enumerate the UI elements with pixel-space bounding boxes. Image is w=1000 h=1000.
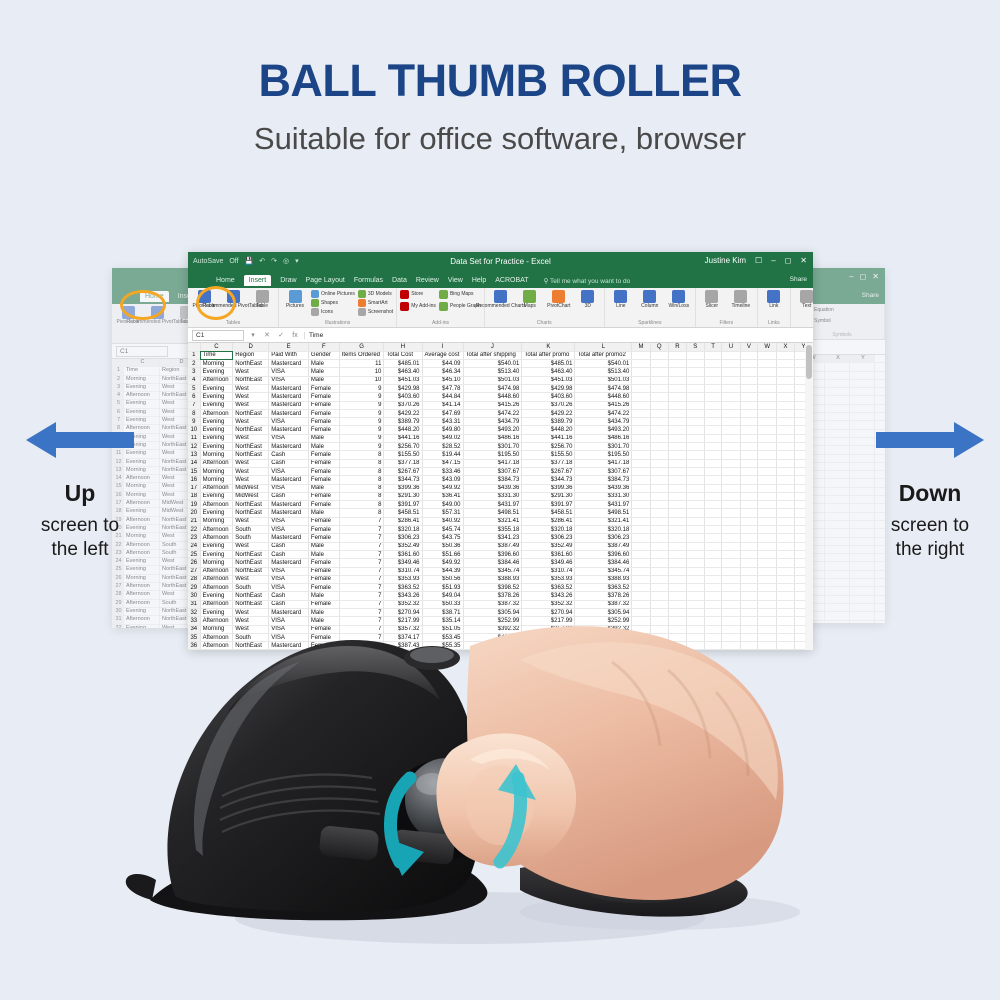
data-cell[interactable]: $321.41 bbox=[575, 517, 632, 525]
data-cell[interactable]: $398.52 bbox=[463, 584, 522, 592]
empty-cell[interactable] bbox=[668, 592, 686, 600]
empty-cell[interactable] bbox=[650, 492, 668, 500]
empty-cell[interactable] bbox=[777, 368, 795, 376]
data-cell[interactable]: Evening bbox=[200, 434, 233, 442]
data-cell[interactable]: $396.60 bbox=[463, 550, 522, 558]
data-cell[interactable]: $384.73 bbox=[463, 476, 522, 484]
data-cell[interactable]: $155.50 bbox=[384, 451, 422, 459]
empty-cell[interactable] bbox=[740, 376, 758, 384]
data-cell[interactable]: Afternoon bbox=[200, 526, 233, 534]
data-cell[interactable]: $361.60 bbox=[522, 550, 575, 558]
empty-cell[interactable] bbox=[650, 434, 668, 442]
close-icon[interactable]: ✕ bbox=[800, 256, 807, 265]
data-cell[interactable]: $458.51 bbox=[384, 509, 422, 517]
empty-cell[interactable] bbox=[650, 459, 668, 467]
empty-cell[interactable] bbox=[704, 384, 722, 392]
column-header-W[interactable]: W bbox=[758, 343, 777, 351]
empty-cell[interactable] bbox=[686, 534, 704, 542]
data-cell[interactable]: $57.31 bbox=[422, 509, 463, 517]
data-cell[interactable]: South bbox=[233, 526, 269, 534]
empty-cell[interactable] bbox=[632, 517, 650, 525]
row-header-15[interactable]: 15 bbox=[188, 467, 200, 475]
data-cell[interactable]: VISA bbox=[269, 567, 309, 575]
ribbon-tab-insert[interactable]: Insert bbox=[244, 275, 272, 286]
data-cell[interactable]: $49.92 bbox=[422, 484, 463, 492]
header-cell[interactable]: Items Ordered bbox=[339, 351, 384, 359]
data-cell[interactable]: Male bbox=[308, 509, 339, 517]
column-header-S[interactable]: S bbox=[686, 343, 704, 351]
empty-cell[interactable] bbox=[704, 484, 722, 492]
empty-cell[interactable] bbox=[650, 360, 668, 368]
empty-cell[interactable] bbox=[722, 459, 740, 467]
row-header-20[interactable]: 20 bbox=[188, 509, 200, 517]
table-row[interactable]: 30EveningNorthEastCashMale7$343.26$49.04… bbox=[188, 592, 813, 600]
data-cell[interactable]: $485.01 bbox=[522, 360, 575, 368]
data-cell[interactable]: Evening bbox=[200, 550, 233, 558]
data-cell[interactable]: Evening bbox=[200, 384, 233, 392]
data-cell[interactable]: $49.00 bbox=[422, 501, 463, 509]
empty-cell[interactable] bbox=[632, 360, 650, 368]
data-cell[interactable]: 7 bbox=[339, 559, 384, 567]
data-cell[interactable]: $50.36 bbox=[422, 542, 463, 550]
empty-cell[interactable] bbox=[668, 451, 686, 459]
data-cell[interactable]: $301.70 bbox=[463, 443, 522, 451]
empty-cell[interactable] bbox=[777, 476, 795, 484]
empty-cell[interactable] bbox=[704, 559, 722, 567]
row-header-2[interactable]: 2 bbox=[188, 360, 200, 368]
table-button[interactable]: Table bbox=[249, 290, 275, 310]
empty-cell[interactable] bbox=[632, 575, 650, 583]
data-cell[interactable]: Cash bbox=[269, 542, 309, 550]
restore-icon[interactable]: ◻ bbox=[785, 256, 792, 265]
data-cell[interactable]: $448.60 bbox=[575, 393, 632, 401]
data-cell[interactable]: $349.46 bbox=[384, 559, 422, 567]
data-cell[interactable]: $361.60 bbox=[384, 550, 422, 558]
data-cell[interactable]: West bbox=[233, 575, 269, 583]
data-cell[interactable]: Male bbox=[308, 368, 339, 376]
data-cell[interactable]: $388.93 bbox=[575, 575, 632, 583]
column-header-J[interactable]: J bbox=[463, 343, 522, 351]
sparkline-column-button[interactable]: Column bbox=[637, 290, 663, 310]
data-cell[interactable]: $391.97 bbox=[522, 501, 575, 509]
data-cell[interactable]: Female bbox=[308, 534, 339, 542]
data-cell[interactable]: $498.51 bbox=[575, 509, 632, 517]
empty-cell[interactable] bbox=[650, 542, 668, 550]
account-name[interactable]: Justine Kim bbox=[705, 256, 746, 265]
empty-cell[interactable] bbox=[650, 376, 668, 384]
empty-cell[interactable] bbox=[686, 484, 704, 492]
data-cell[interactable]: NorthEast bbox=[233, 501, 269, 509]
row-header-30[interactable]: 30 bbox=[188, 592, 200, 600]
data-cell[interactable]: 7 bbox=[339, 534, 384, 542]
data-cell[interactable]: $291.30 bbox=[522, 492, 575, 500]
data-cell[interactable]: $353.93 bbox=[522, 575, 575, 583]
empty-cell[interactable] bbox=[668, 526, 686, 534]
empty-cell[interactable] bbox=[722, 401, 740, 409]
empty-cell[interactable] bbox=[650, 501, 668, 509]
data-cell[interactable]: $49.92 bbox=[422, 559, 463, 567]
empty-cell[interactable] bbox=[668, 575, 686, 583]
slicer-button[interactable]: Slicer bbox=[699, 290, 725, 310]
link-button[interactable]: Link bbox=[761, 290, 787, 310]
ribbon-tab-data[interactable]: Data bbox=[392, 277, 407, 284]
data-cell[interactable]: Cash bbox=[269, 550, 309, 558]
data-cell[interactable]: VISA bbox=[269, 418, 309, 426]
data-cell[interactable]: West bbox=[233, 418, 269, 426]
row-header-3[interactable]: 3 bbox=[188, 368, 200, 376]
empty-cell[interactable] bbox=[686, 501, 704, 509]
empty-cell[interactable] bbox=[722, 443, 740, 451]
empty-cell[interactable] bbox=[740, 567, 758, 575]
data-cell[interactable]: $320.18 bbox=[575, 526, 632, 534]
data-cell[interactable]: $387.49 bbox=[463, 542, 522, 550]
empty-cell[interactable] bbox=[758, 426, 777, 434]
table-row[interactable]: 25EveningNorthEastCashMale7$361.60$51.66… bbox=[188, 550, 813, 558]
pictures-button[interactable]: Pictures bbox=[282, 290, 308, 310]
empty-cell[interactable] bbox=[777, 384, 795, 392]
column-header-C[interactable]: C bbox=[200, 343, 233, 351]
data-cell[interactable]: Female bbox=[308, 393, 339, 401]
row-header-23[interactable]: 23 bbox=[188, 534, 200, 542]
data-cell[interactable]: VISA bbox=[269, 434, 309, 442]
data-cell[interactable]: $377.18 bbox=[384, 459, 422, 467]
empty-cell[interactable] bbox=[704, 509, 722, 517]
ribbon-tab-home[interactable]: Home bbox=[216, 277, 235, 284]
empty-cell[interactable] bbox=[650, 584, 668, 592]
data-cell[interactable]: Female bbox=[308, 501, 339, 509]
empty-cell[interactable] bbox=[650, 476, 668, 484]
data-cell[interactable]: $341.23 bbox=[463, 534, 522, 542]
my-addins-button[interactable]: My Add-ins bbox=[400, 302, 436, 311]
empty-cell[interactable] bbox=[668, 368, 686, 376]
empty-cell[interactable] bbox=[777, 459, 795, 467]
data-cell[interactable]: $474.98 bbox=[575, 384, 632, 392]
empty-cell[interactable] bbox=[758, 393, 777, 401]
empty-cell[interactable] bbox=[740, 542, 758, 550]
empty-cell[interactable] bbox=[740, 351, 758, 359]
empty-cell[interactable] bbox=[758, 418, 777, 426]
bing-maps-button[interactable]: Bing Maps bbox=[439, 290, 481, 299]
empty-cell[interactable] bbox=[777, 351, 795, 359]
dropdown-icon[interactable]: ▾ bbox=[248, 331, 258, 339]
data-cell[interactable]: $485.01 bbox=[384, 360, 422, 368]
data-cell[interactable]: Afternoon bbox=[200, 459, 233, 467]
data-cell[interactable]: $388.93 bbox=[463, 575, 522, 583]
data-cell[interactable]: $155.50 bbox=[522, 451, 575, 459]
empty-cell[interactable] bbox=[777, 559, 795, 567]
empty-cell[interactable] bbox=[632, 501, 650, 509]
empty-cell[interactable] bbox=[632, 459, 650, 467]
column-header-I[interactable]: I bbox=[422, 343, 463, 351]
scrollbar-thumb[interactable] bbox=[806, 345, 812, 379]
data-cell[interactable]: 9 bbox=[339, 384, 384, 392]
data-cell[interactable]: $36.41 bbox=[422, 492, 463, 500]
empty-cell[interactable] bbox=[650, 484, 668, 492]
data-cell[interactable]: $403.60 bbox=[384, 393, 422, 401]
empty-cell[interactable] bbox=[704, 517, 722, 525]
data-cell[interactable]: $343.26 bbox=[384, 592, 422, 600]
data-cell[interactable]: $195.50 bbox=[463, 451, 522, 459]
data-cell[interactable]: $434.79 bbox=[463, 418, 522, 426]
empty-cell[interactable] bbox=[686, 526, 704, 534]
data-cell[interactable]: Male bbox=[308, 443, 339, 451]
table-row[interactable]: 20EveningNorthEastMastercardMale8$458.51… bbox=[188, 509, 813, 517]
empty-cell[interactable] bbox=[704, 467, 722, 475]
table-row[interactable]: 29AfternoonSouthVISAFemale7$363.52$51.93… bbox=[188, 584, 813, 592]
data-cell[interactable]: 7 bbox=[339, 517, 384, 525]
row-header-10[interactable]: 10 bbox=[188, 426, 200, 434]
empty-cell[interactable] bbox=[650, 384, 668, 392]
data-cell[interactable]: $403.60 bbox=[522, 393, 575, 401]
data-cell[interactable]: $493.20 bbox=[575, 426, 632, 434]
data-cell[interactable]: Evening bbox=[200, 592, 233, 600]
data-cell[interactable]: Afternoon bbox=[200, 584, 233, 592]
empty-cell[interactable] bbox=[668, 351, 686, 359]
empty-cell[interactable] bbox=[686, 418, 704, 426]
data-cell[interactable]: $417.18 bbox=[463, 459, 522, 467]
table-row[interactable]: 23AfternoonSouthMastercardFemale7$306.23… bbox=[188, 534, 813, 542]
data-cell[interactable]: $46.34 bbox=[422, 368, 463, 376]
data-cell[interactable]: $415.26 bbox=[463, 401, 522, 409]
empty-cell[interactable] bbox=[722, 567, 740, 575]
data-cell[interactable]: Cash bbox=[269, 592, 309, 600]
header-cell[interactable]: Paid With bbox=[269, 351, 309, 359]
text-box-button[interactable]: Text bbox=[794, 290, 813, 310]
data-cell[interactable]: Female bbox=[308, 476, 339, 484]
header-cell[interactable]: Total after promo bbox=[522, 351, 575, 359]
data-cell[interactable]: $343.26 bbox=[522, 592, 575, 600]
data-cell[interactable]: $40.92 bbox=[422, 517, 463, 525]
table-row[interactable]: 3EveningWestVISAMale10$463.40$46.34$513.… bbox=[188, 368, 813, 376]
data-cell[interactable]: 7 bbox=[339, 542, 384, 550]
table-row[interactable]: 28AfternoonWestVISAFemale7$353.93$50.56$… bbox=[188, 575, 813, 583]
formula-bar[interactable]: C1 ▾ ✕ ✓ fx Time bbox=[188, 328, 813, 343]
data-cell[interactable]: Morning bbox=[200, 467, 233, 475]
data-cell[interactable]: Mastercard bbox=[269, 401, 309, 409]
empty-cell[interactable] bbox=[632, 451, 650, 459]
empty-cell[interactable] bbox=[704, 476, 722, 484]
data-cell[interactable]: VISA bbox=[269, 526, 309, 534]
data-cell[interactable]: Female bbox=[308, 418, 339, 426]
share-button[interactable]: Share bbox=[790, 276, 807, 283]
data-cell[interactable]: Mastercard bbox=[269, 476, 309, 484]
data-cell[interactable]: South bbox=[233, 534, 269, 542]
data-cell[interactable]: 10 bbox=[339, 368, 384, 376]
empty-cell[interactable] bbox=[777, 451, 795, 459]
empty-cell[interactable] bbox=[777, 467, 795, 475]
empty-cell[interactable] bbox=[777, 401, 795, 409]
data-cell[interactable]: $391.97 bbox=[384, 501, 422, 509]
data-cell[interactable]: 8 bbox=[339, 492, 384, 500]
data-cell[interactable]: $387.49 bbox=[575, 542, 632, 550]
empty-cell[interactable] bbox=[722, 376, 740, 384]
empty-cell[interactable] bbox=[668, 484, 686, 492]
data-cell[interactable]: $363.52 bbox=[575, 584, 632, 592]
data-cell[interactable]: Evening bbox=[200, 509, 233, 517]
data-cell[interactable]: $474.98 bbox=[463, 384, 522, 392]
data-cell[interactable]: Morning bbox=[200, 451, 233, 459]
pivotchart-button[interactable]: PivotChart bbox=[546, 290, 572, 310]
empty-cell[interactable] bbox=[740, 368, 758, 376]
data-cell[interactable]: West bbox=[233, 401, 269, 409]
data-cell[interactable]: $540.01 bbox=[463, 360, 522, 368]
empty-cell[interactable] bbox=[758, 467, 777, 475]
empty-cell[interactable] bbox=[722, 534, 740, 542]
empty-cell[interactable] bbox=[777, 376, 795, 384]
empty-cell[interactable] bbox=[740, 459, 758, 467]
table-row[interactable]: 10EveningNorthEastMastercardFemale9$448.… bbox=[188, 426, 813, 434]
row-header-24[interactable]: 24 bbox=[188, 542, 200, 550]
empty-cell[interactable] bbox=[686, 492, 704, 500]
data-cell[interactable]: 11 bbox=[339, 360, 384, 368]
data-cell[interactable]: $451.03 bbox=[384, 376, 422, 384]
data-cell[interactable]: $458.51 bbox=[522, 509, 575, 517]
data-cell[interactable]: $51.93 bbox=[422, 584, 463, 592]
data-cell[interactable]: 8 bbox=[339, 459, 384, 467]
data-cell[interactable]: NorthEast bbox=[233, 451, 269, 459]
table-row[interactable]: 14AfternoonWestCashFemale8$377.18$47.15$… bbox=[188, 459, 813, 467]
data-cell[interactable]: VISA bbox=[269, 584, 309, 592]
empty-cell[interactable] bbox=[777, 534, 795, 542]
tell-me-search[interactable]: ⚲ Tell me what you want to do bbox=[544, 277, 631, 285]
empty-cell[interactable] bbox=[686, 575, 704, 583]
empty-cell[interactable] bbox=[722, 575, 740, 583]
table-row[interactable]: 21MorningWestVISAFemale7$286.41$40.92$32… bbox=[188, 517, 813, 525]
data-cell[interactable]: $43.31 bbox=[422, 418, 463, 426]
empty-cell[interactable] bbox=[722, 592, 740, 600]
data-cell[interactable]: Male bbox=[308, 550, 339, 558]
data-cell[interactable]: West bbox=[233, 384, 269, 392]
column-header-F[interactable]: F bbox=[308, 343, 339, 351]
data-cell[interactable]: Afternoon bbox=[200, 376, 233, 384]
data-cell[interactable]: $399.36 bbox=[522, 484, 575, 492]
empty-cell[interactable] bbox=[722, 384, 740, 392]
data-cell[interactable]: Male bbox=[308, 376, 339, 384]
empty-cell[interactable] bbox=[668, 534, 686, 542]
data-cell[interactable]: 7 bbox=[339, 526, 384, 534]
table-row[interactable]: 7EveningWestMastercardFemale9$370.26$41.… bbox=[188, 401, 813, 409]
data-cell[interactable]: 9 bbox=[339, 418, 384, 426]
data-cell[interactable]: West bbox=[233, 476, 269, 484]
empty-cell[interactable] bbox=[704, 592, 722, 600]
empty-cell[interactable] bbox=[650, 517, 668, 525]
data-cell[interactable]: $463.40 bbox=[384, 368, 422, 376]
data-cell[interactable]: $513.40 bbox=[463, 368, 522, 376]
empty-cell[interactable] bbox=[632, 467, 650, 475]
data-cell[interactable]: West bbox=[233, 434, 269, 442]
empty-cell[interactable] bbox=[668, 393, 686, 401]
empty-cell[interactable] bbox=[704, 550, 722, 558]
data-cell[interactable]: $307.67 bbox=[463, 467, 522, 475]
column-header-K[interactable]: K bbox=[522, 343, 575, 351]
data-cell[interactable]: $513.40 bbox=[575, 368, 632, 376]
empty-cell[interactable] bbox=[740, 434, 758, 442]
table-row[interactable]: 1TimeRegionPaid WithGenderItems OrderedT… bbox=[188, 351, 813, 359]
empty-cell[interactable] bbox=[758, 409, 777, 417]
empty-cell[interactable] bbox=[777, 567, 795, 575]
table-row[interactable]: 16MorningWestMastercardFemale8$344.73$43… bbox=[188, 476, 813, 484]
data-cell[interactable]: Afternoon bbox=[200, 409, 233, 417]
data-cell[interactable]: $307.67 bbox=[575, 467, 632, 475]
empty-cell[interactable] bbox=[704, 418, 722, 426]
empty-cell[interactable] bbox=[650, 559, 668, 567]
data-cell[interactable]: 9 bbox=[339, 443, 384, 451]
data-cell[interactable]: $291.30 bbox=[384, 492, 422, 500]
column-header-X[interactable]: X bbox=[777, 343, 795, 351]
empty-cell[interactable] bbox=[650, 592, 668, 600]
empty-cell[interactable] bbox=[632, 559, 650, 567]
empty-cell[interactable] bbox=[758, 434, 777, 442]
data-cell[interactable]: $429.22 bbox=[384, 409, 422, 417]
empty-cell[interactable] bbox=[740, 384, 758, 392]
empty-cell[interactable] bbox=[758, 351, 777, 359]
empty-cell[interactable] bbox=[704, 443, 722, 451]
data-cell[interactable]: MidWest bbox=[233, 492, 269, 500]
data-cell[interactable]: Morning bbox=[200, 517, 233, 525]
empty-cell[interactable] bbox=[704, 534, 722, 542]
data-cell[interactable]: $448.20 bbox=[522, 426, 575, 434]
table-row[interactable]: 15MorningWestVISAFemale8$267.67$33.46$30… bbox=[188, 467, 813, 475]
data-cell[interactable]: 8 bbox=[339, 509, 384, 517]
data-cell[interactable]: $195.50 bbox=[575, 451, 632, 459]
data-cell[interactable]: $396.60 bbox=[575, 550, 632, 558]
icons-button[interactable]: Icons bbox=[311, 308, 355, 316]
data-cell[interactable]: $286.41 bbox=[384, 517, 422, 525]
data-cell[interactable]: West bbox=[233, 459, 269, 467]
data-cell[interactable]: West bbox=[233, 368, 269, 376]
empty-cell[interactable] bbox=[668, 550, 686, 558]
data-cell[interactable]: $286.41 bbox=[522, 517, 575, 525]
data-cell[interactable]: $49.02 bbox=[422, 434, 463, 442]
empty-cell[interactable] bbox=[758, 501, 777, 509]
empty-cell[interactable] bbox=[758, 451, 777, 459]
data-cell[interactable]: 7 bbox=[339, 584, 384, 592]
data-cell[interactable]: Mastercard bbox=[269, 559, 309, 567]
empty-cell[interactable] bbox=[740, 501, 758, 509]
column-header-L[interactable]: L bbox=[575, 343, 632, 351]
data-cell[interactable]: $448.20 bbox=[384, 426, 422, 434]
empty-cell[interactable] bbox=[650, 567, 668, 575]
empty-cell[interactable] bbox=[650, 418, 668, 426]
empty-cell[interactable] bbox=[650, 550, 668, 558]
empty-cell[interactable] bbox=[650, 401, 668, 409]
empty-cell[interactable] bbox=[740, 476, 758, 484]
data-cell[interactable]: 9 bbox=[339, 434, 384, 442]
recommended-charts-button[interactable]: Recommended Charts bbox=[488, 290, 514, 310]
data-cell[interactable]: Afternoon bbox=[200, 484, 233, 492]
data-cell[interactable]: Evening bbox=[200, 492, 233, 500]
data-cell[interactable]: Afternoon bbox=[200, 567, 233, 575]
data-cell[interactable]: 7 bbox=[339, 592, 384, 600]
empty-cell[interactable] bbox=[704, 492, 722, 500]
empty-cell[interactable] bbox=[632, 567, 650, 575]
empty-cell[interactable] bbox=[650, 393, 668, 401]
empty-cell[interactable] bbox=[632, 426, 650, 434]
data-cell[interactable]: West bbox=[233, 542, 269, 550]
data-cell[interactable]: $384.46 bbox=[575, 559, 632, 567]
empty-cell[interactable] bbox=[740, 418, 758, 426]
empty-cell[interactable] bbox=[777, 509, 795, 517]
data-cell[interactable]: Afternoon bbox=[200, 575, 233, 583]
table-row[interactable]: 22AfternoonSouthVISAFemale7$320.18$45.74… bbox=[188, 526, 813, 534]
empty-cell[interactable] bbox=[686, 451, 704, 459]
empty-cell[interactable] bbox=[722, 393, 740, 401]
empty-cell[interactable] bbox=[758, 517, 777, 525]
data-cell[interactable]: 8 bbox=[339, 451, 384, 459]
data-cell[interactable]: Afternoon bbox=[200, 501, 233, 509]
empty-cell[interactable] bbox=[758, 368, 777, 376]
data-cell[interactable]: $310.74 bbox=[522, 567, 575, 575]
